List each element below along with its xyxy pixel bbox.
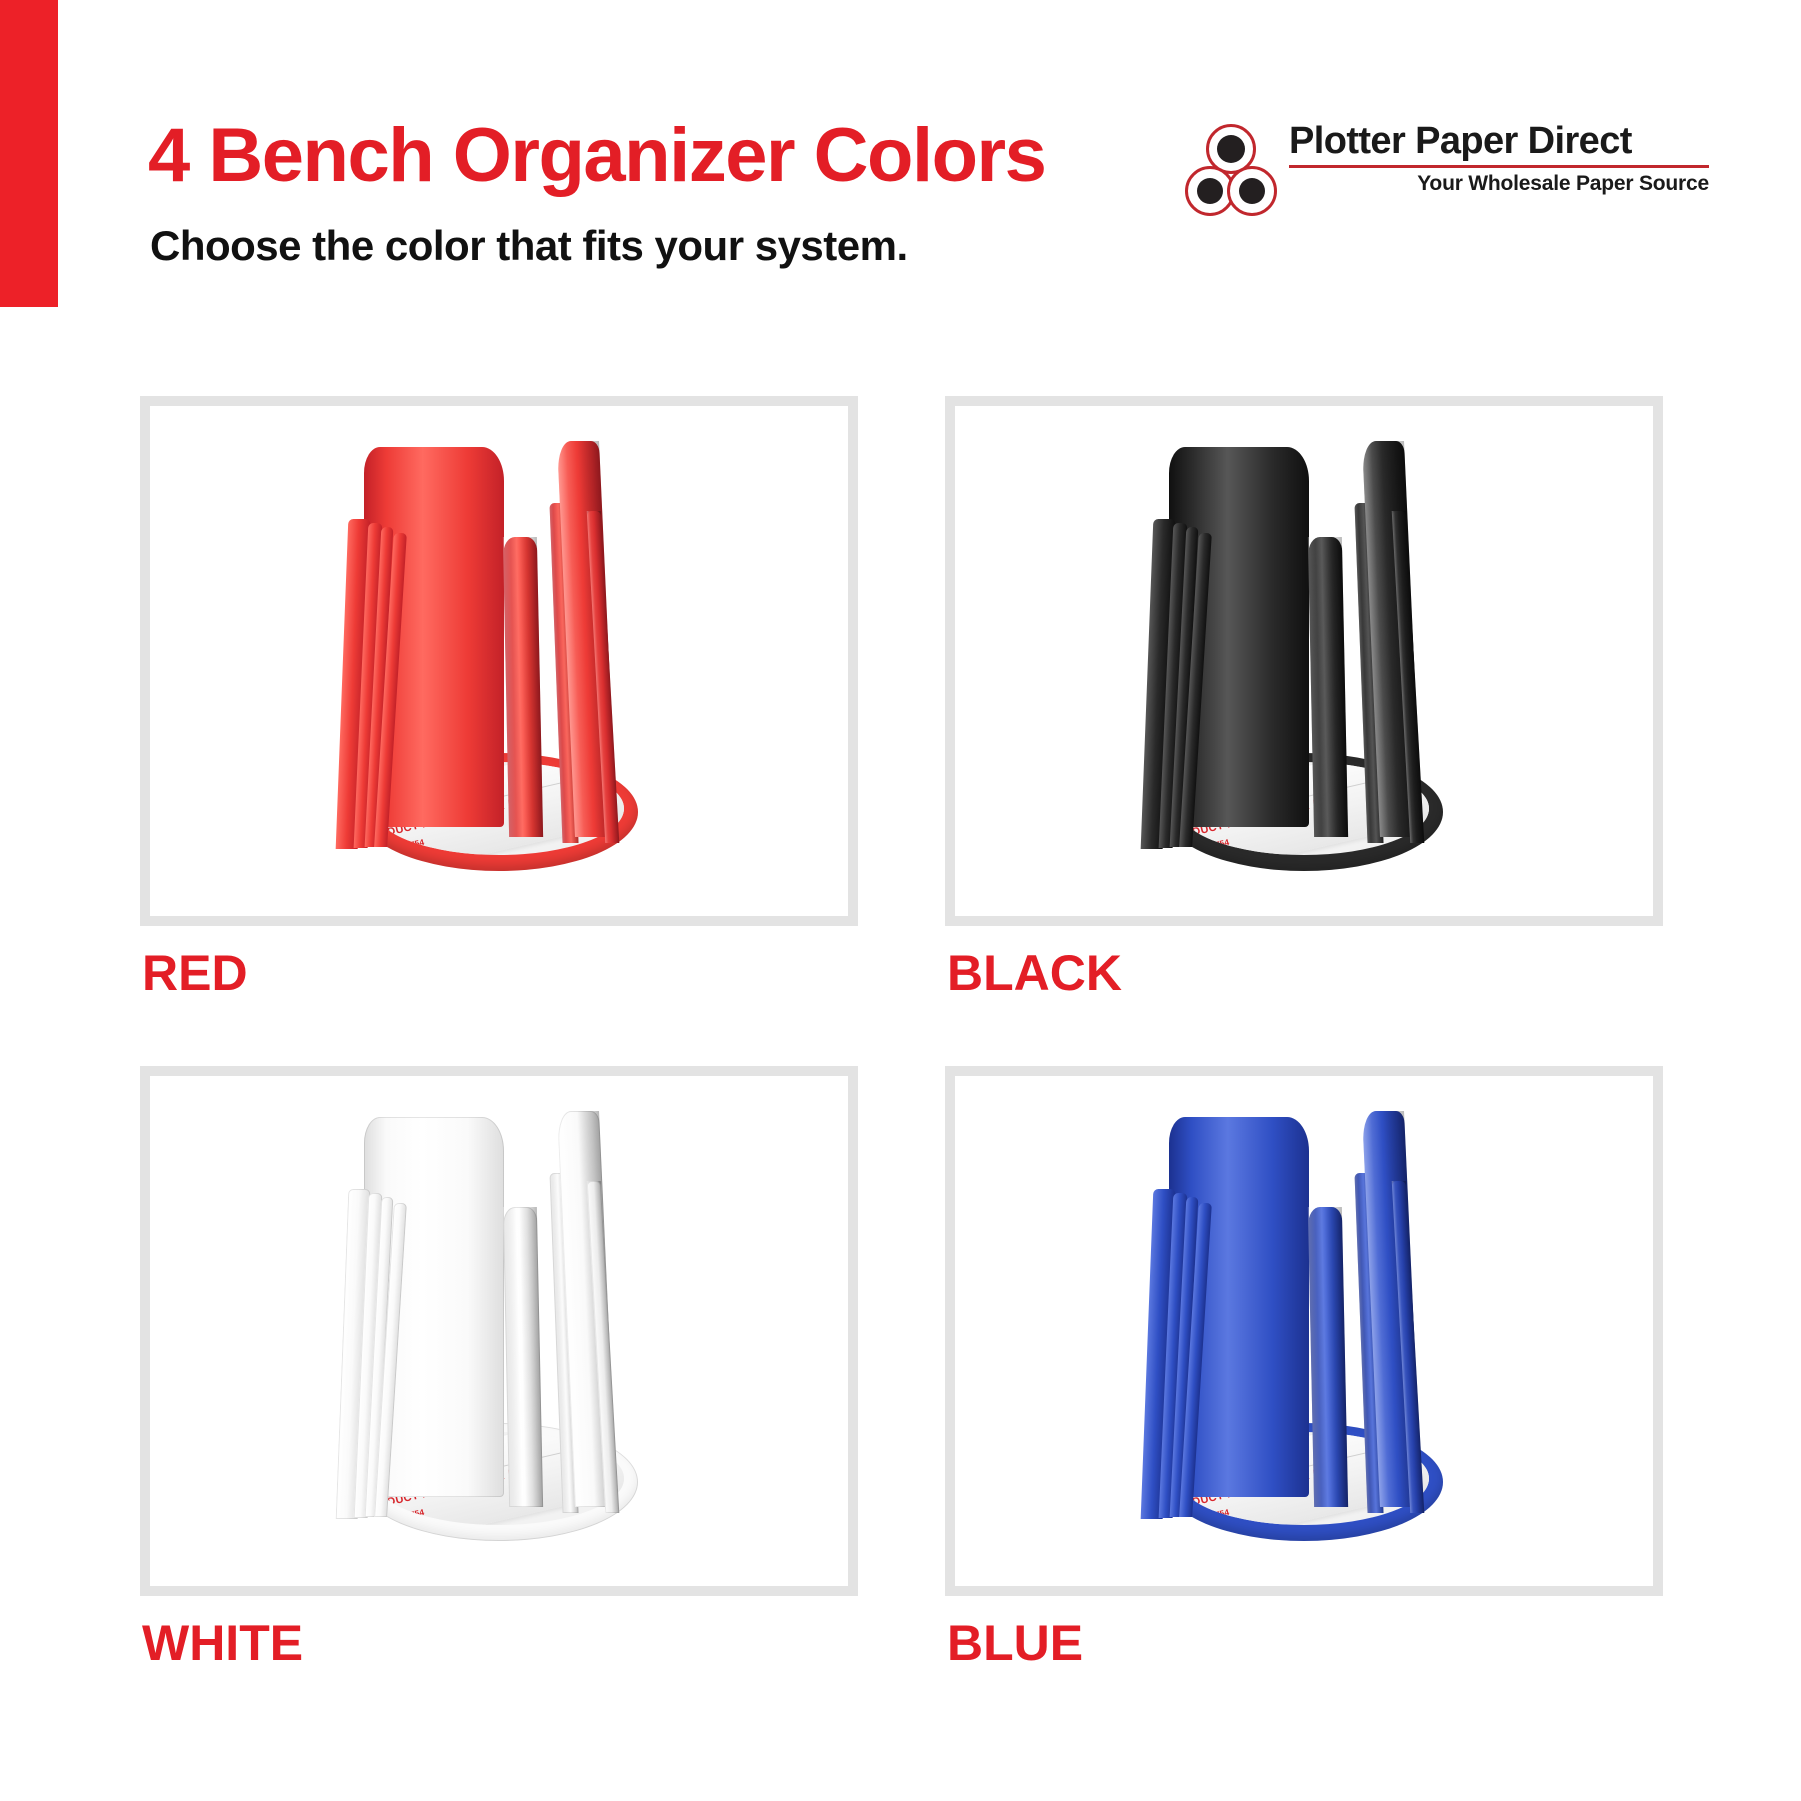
photo-stage: Plotter Paper Direct Your Wholesale Pape… [150,1076,848,1586]
logo-text-block: Plotter Paper Direct Your Wholesale Pape… [1289,122,1709,196]
logo-divider [1289,165,1709,168]
product-color-grid: Plotter Paper Direct Your Wholesale Pape… [0,396,1801,1726]
color-label-black: BLACK [947,944,1122,1002]
product-card-white[interactable]: Plotter Paper Direct Your Wholesale Pape… [140,1066,858,1596]
photo-stage: Plotter Paper Direct Your Wholesale Pape… [955,1076,1653,1586]
paper-rolls-icon [1185,124,1277,216]
organizer-center-fin [503,1207,543,1507]
organizer-center-fin [1308,537,1348,837]
color-label-red: RED [142,944,248,1002]
page-subtitle: Choose the color that fits your system. [150,222,908,270]
logo-tagline: Your Wholesale Paper Source [1289,172,1709,196]
photo-frame: Plotter Paper Direct Your Wholesale Pape… [140,396,858,926]
color-label-blue: BLUE [947,1614,1083,1672]
bench-organizer-image: Plotter Paper Direct Your Wholesale Pape… [1139,1111,1469,1551]
bench-organizer-image: Plotter Paper Direct Your Wholesale Pape… [334,441,664,881]
roll-core [1239,178,1265,204]
color-label-white: WHITE [142,1614,303,1672]
photo-stage: Plotter Paper Direct Your Wholesale Pape… [150,406,848,916]
roll-core [1197,178,1223,204]
roll-core [1217,135,1245,163]
left-accent-bar [0,0,58,307]
photo-frame: Plotter Paper Direct Your Wholesale Pape… [140,1066,858,1596]
photo-frame: Plotter Paper Direct Your Wholesale Pape… [945,396,1663,926]
product-card-black[interactable]: Plotter Paper Direct Your Wholesale Pape… [945,396,1663,926]
bench-organizer-image: Plotter Paper Direct Your Wholesale Pape… [1139,441,1469,881]
organizer-center-fin [503,537,543,837]
photo-stage: Plotter Paper Direct Your Wholesale Pape… [955,406,1653,916]
organizer-center-fin [1308,1207,1348,1507]
page-title: 4 Bench Organizer Colors [148,118,1045,194]
product-card-red[interactable]: Plotter Paper Direct Your Wholesale Pape… [140,396,858,926]
brand-logo: Plotter Paper Direct Your Wholesale Pape… [1185,122,1705,218]
paper-roll-right-icon [1227,166,1277,216]
photo-frame: Plotter Paper Direct Your Wholesale Pape… [945,1066,1663,1596]
bench-organizer-image: Plotter Paper Direct Your Wholesale Pape… [334,1111,664,1551]
logo-company-name: Plotter Paper Direct [1289,122,1709,162]
product-card-blue[interactable]: Plotter Paper Direct Your Wholesale Pape… [945,1066,1663,1596]
